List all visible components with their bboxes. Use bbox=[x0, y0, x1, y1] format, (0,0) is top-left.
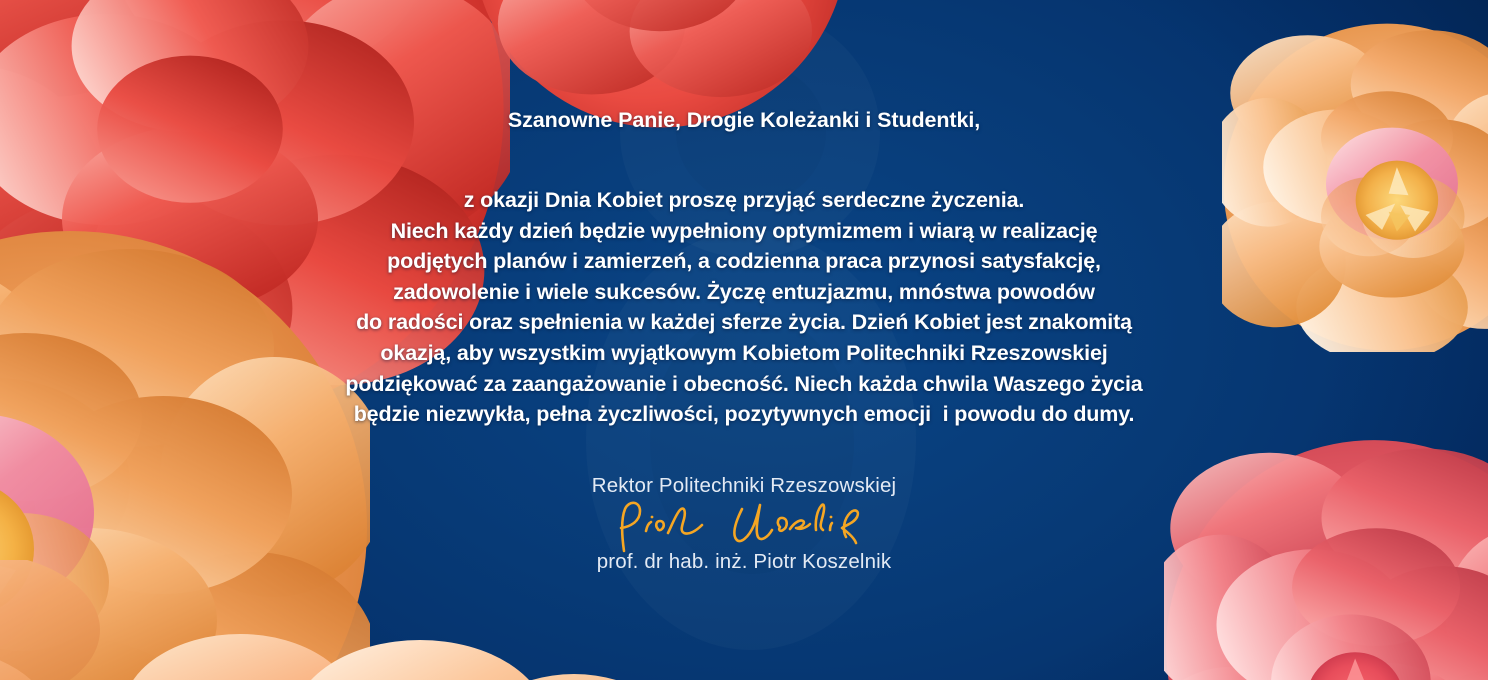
card-content: Szanowne Panie, Drogie Koleżanki i Stude… bbox=[0, 0, 1488, 574]
signature-name: prof. dr hab. inż. Piotr Koszelnik bbox=[0, 550, 1488, 574]
message-line: zadowolenie i wiele sukcesów. Życzę entu… bbox=[0, 277, 1488, 308]
signature-block: Rektor Politechniki Rzeszowskiej bbox=[0, 474, 1488, 574]
message-line: Niech każdy dzień będzie wypełniony opty… bbox=[0, 216, 1488, 247]
message-line: podjętych planów i zamierzeń, a codzienn… bbox=[0, 246, 1488, 277]
message-line: będzie niezwykła, pełna życzliwości, poz… bbox=[0, 399, 1488, 430]
greeting-line: Szanowne Panie, Drogie Koleżanki i Stude… bbox=[0, 108, 1488, 133]
message-line: podziękować za zaangażowanie i obecność.… bbox=[0, 369, 1488, 400]
message-line: do radości oraz spełnienia w każdej sfer… bbox=[0, 307, 1488, 338]
handwritten-signature-icon bbox=[0, 496, 1488, 558]
message-body: z okazji Dnia Kobiet proszę przyjąć serd… bbox=[0, 185, 1488, 430]
message-line: z okazji Dnia Kobiet proszę przyjąć serd… bbox=[0, 185, 1488, 216]
signature-role: Rektor Politechniki Rzeszowskiej bbox=[0, 474, 1488, 498]
message-line: okazją, aby wszystkim wyjątkowym Kobieto… bbox=[0, 338, 1488, 369]
greeting-card: Szanowne Panie, Drogie Koleżanki i Stude… bbox=[0, 0, 1488, 680]
